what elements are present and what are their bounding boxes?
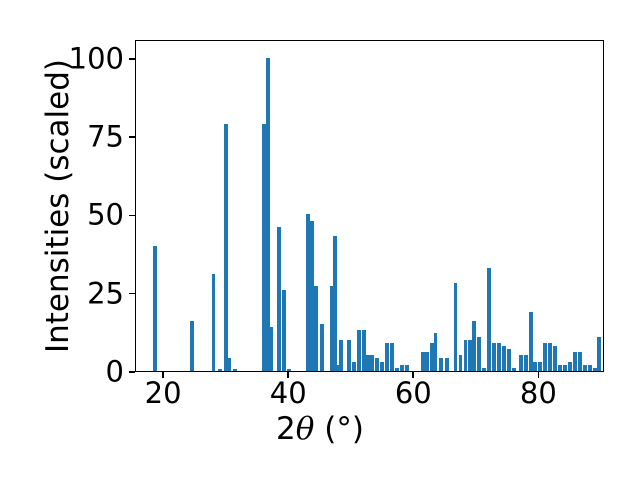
bar [434, 333, 438, 371]
bar [320, 324, 324, 371]
bar [524, 355, 528, 371]
bar [380, 362, 384, 371]
bar [573, 352, 577, 371]
bar [314, 286, 318, 371]
bar [472, 321, 476, 371]
bar [568, 362, 572, 371]
bar [477, 337, 481, 371]
y-tick-label: 0 [106, 358, 124, 387]
bar [333, 236, 337, 371]
bar [224, 124, 228, 371]
plot-area [135, 40, 604, 372]
bar [519, 355, 523, 371]
bar [529, 312, 533, 372]
bar [487, 268, 491, 371]
bar [421, 352, 425, 371]
bar [153, 246, 157, 371]
bar [583, 365, 587, 371]
bar [287, 369, 291, 371]
bar [385, 343, 389, 371]
bar [538, 362, 542, 371]
bar [212, 274, 216, 371]
bar [375, 358, 379, 371]
x-tick-label: 40 [270, 379, 307, 408]
bar [492, 343, 496, 371]
bar [553, 346, 557, 371]
x-tick-label: 20 [145, 379, 182, 408]
bar [497, 343, 501, 371]
bar [482, 368, 486, 371]
bar [277, 227, 281, 371]
bar [233, 369, 237, 371]
bar [266, 58, 270, 371]
y-tick [129, 215, 135, 217]
bar [459, 355, 463, 371]
bar [578, 352, 582, 371]
bar [405, 365, 409, 371]
y-tick [129, 293, 135, 295]
bar [512, 368, 516, 371]
bar [588, 365, 592, 371]
bar [218, 369, 222, 371]
bar [352, 362, 356, 371]
bar [439, 358, 443, 371]
bar [563, 365, 567, 371]
y-tick-label: 50 [87, 201, 124, 230]
bars-layer [136, 41, 603, 371]
bar [400, 365, 404, 371]
bar [310, 221, 314, 371]
y-tick [129, 58, 135, 60]
bar [269, 327, 273, 371]
bar [425, 352, 429, 371]
bar [464, 340, 468, 371]
bar [597, 337, 601, 371]
x-tick-label: 80 [520, 379, 557, 408]
bar [362, 330, 366, 371]
y-tick [129, 371, 135, 373]
bar [370, 355, 374, 371]
bar [357, 330, 361, 371]
bar [468, 340, 472, 371]
y-axis-label: Intensities (scaled) [38, 40, 78, 372]
x-axis-label-text: 2θ (°) [276, 411, 364, 447]
bar [339, 340, 343, 371]
y-tick-label: 75 [87, 123, 124, 152]
bar [543, 343, 547, 371]
bar [282, 290, 286, 371]
bar [502, 346, 506, 371]
bar [454, 283, 458, 371]
bar [593, 368, 597, 371]
xrd-chart-figure: 20406080 0255075100 2θ (°) Intensities (… [0, 0, 640, 480]
bar [507, 349, 511, 371]
bar [395, 368, 399, 371]
bar [533, 362, 537, 371]
x-tick-label: 60 [395, 379, 432, 408]
bar [190, 321, 194, 371]
bar [227, 358, 231, 371]
bar [558, 365, 562, 371]
bar [445, 358, 449, 371]
y-tick-label: 25 [87, 279, 124, 308]
x-axis-label: 2θ (°) [0, 412, 640, 448]
bar [390, 343, 394, 371]
bar [347, 340, 351, 371]
y-tick [129, 136, 135, 138]
bar [548, 343, 552, 371]
